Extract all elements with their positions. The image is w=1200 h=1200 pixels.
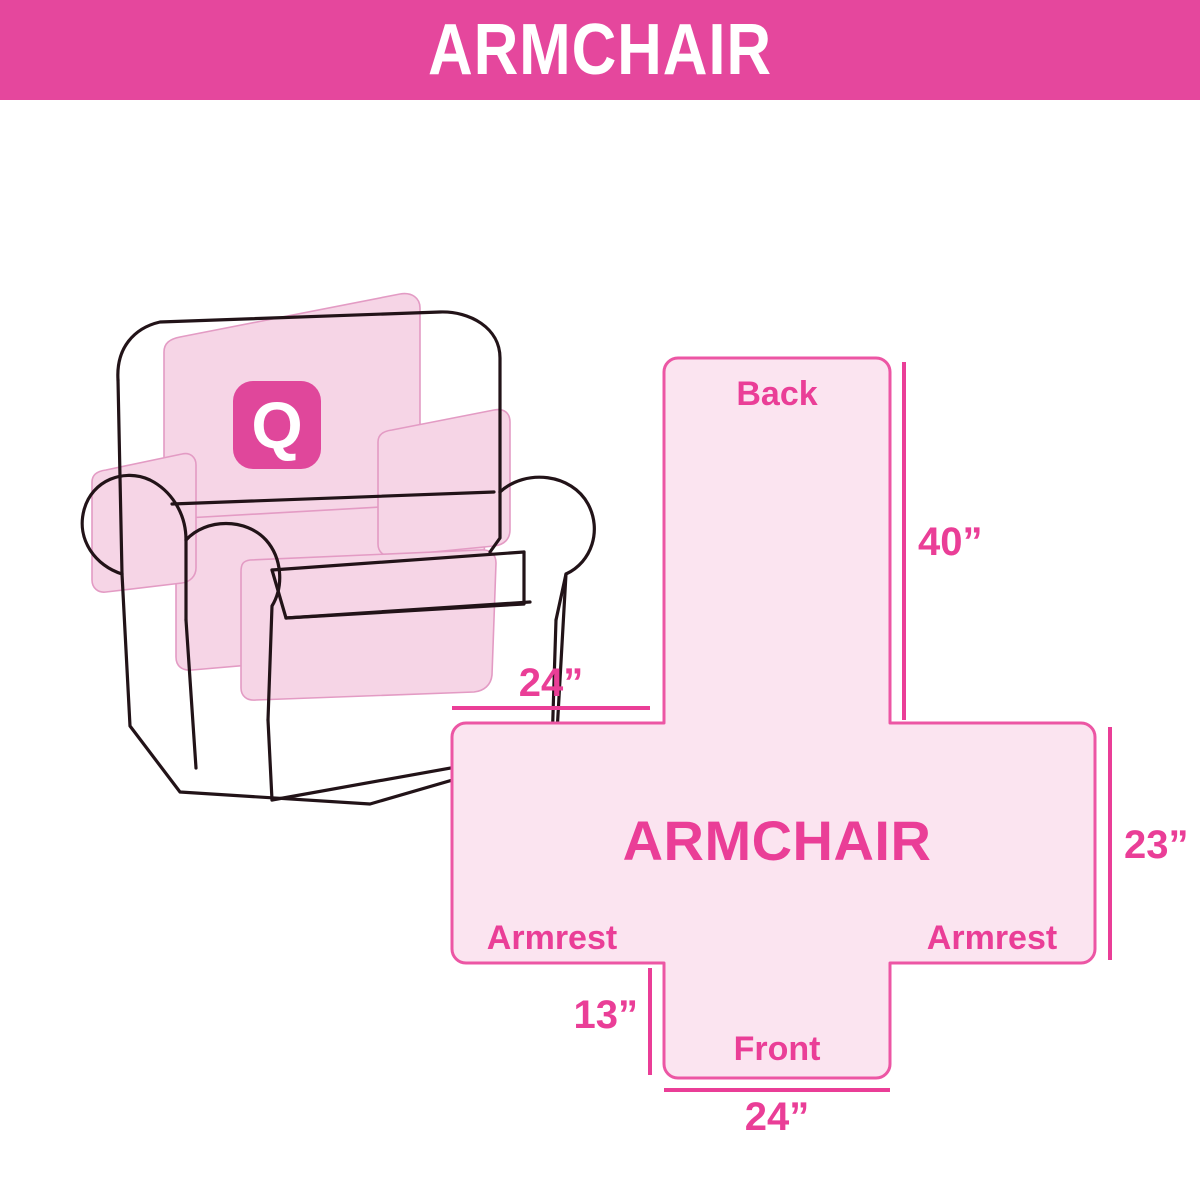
logo-letter: Q — [251, 388, 302, 462]
panel-label-back: Back — [736, 375, 817, 413]
diagram-content-area: Q Back ARMCHAIR Armrest Armrest Front 40… — [0, 100, 1200, 1200]
header-banner: ARMCHAIR — [0, 0, 1200, 100]
panel-label-armrest-right: Armrest — [927, 919, 1057, 957]
panel-label-front: Front — [734, 1030, 821, 1068]
page-title: ARMCHAIR — [428, 14, 772, 86]
panel-label-center: ARMCHAIR — [623, 809, 932, 872]
armchair-dimension-diagram: Q Back ARMCHAIR Armrest Armrest Front 40… — [0, 100, 1200, 1200]
panel-label-armrest-left: Armrest — [487, 919, 617, 957]
dimension-back-height: 40” — [904, 362, 983, 720]
dimension-arm-depth: 23” — [1110, 727, 1189, 960]
dimension-arm-depth-label: 23” — [1124, 823, 1189, 867]
dimension-front-width-label: 24” — [745, 1095, 810, 1139]
q-logo-badge: Q — [233, 381, 321, 469]
dimension-front-depth-label: 13” — [574, 993, 639, 1037]
dimension-back-height-label: 40” — [918, 520, 983, 564]
dimension-front-width: 24” — [664, 1090, 890, 1139]
dimension-back-width-label: 24” — [519, 661, 584, 705]
dimension-front-depth: 13” — [574, 968, 651, 1075]
